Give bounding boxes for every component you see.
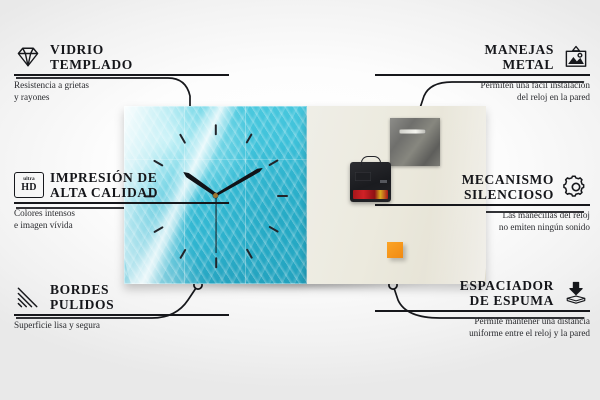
arrow-down-onto-pad-icon	[562, 280, 590, 306]
feature-description: Superficie lisa y segura	[14, 316, 229, 331]
picture-frame-hanger-icon	[562, 44, 590, 70]
feature-description: Permiten una fácil instalación del reloj…	[375, 76, 590, 103]
feature-title: MANEJASMETAL	[485, 42, 554, 72]
feature-title: BORDESPULIDOS	[50, 282, 114, 312]
metal-hanger-plate	[390, 118, 440, 166]
ultra-hd-icon-main-text: HD	[21, 183, 37, 193]
feature-description: Resistencia a grietas y rayones	[14, 76, 229, 103]
feature-header: BORDESPULIDOS	[14, 282, 229, 314]
feature-header: ultra HD IMPRESIÓN DEALTA CALIDAD	[14, 170, 229, 202]
feature-header: ESPACIADORDE ESPUMA	[375, 278, 590, 310]
feature-description: Permite mantener una distancia uniforme …	[375, 312, 590, 339]
foam-spacer-square	[387, 242, 403, 258]
feature-manejas-metal: MANEJASMETAL Permiten una fácil instalac…	[375, 42, 590, 103]
feature-header: VIDRIOTEMPLADO	[14, 42, 229, 74]
diamond-icon	[14, 44, 42, 70]
infographic-canvas: VIDRIOTEMPLADO Resistencia a grietas y r…	[0, 0, 600, 400]
feature-mecanismo-silencioso: MECANISMOSILENCIOSO Las manecillas del r…	[375, 172, 590, 233]
feature-description: Colores intensos e imagen vívida	[14, 204, 229, 231]
feature-description: Las manecillas del reloj no emiten ningú…	[375, 206, 590, 233]
feature-header: MECANISMOSILENCIOSO	[375, 172, 590, 204]
feature-header: MANEJASMETAL	[375, 42, 590, 74]
feature-title: ESPACIADORDE ESPUMA	[460, 278, 554, 308]
polished-edge-stripes-icon	[14, 284, 42, 310]
feature-vidrio-templado: VIDRIOTEMPLADO Resistencia a grietas y r…	[14, 42, 229, 103]
feature-impresion-alta-calidad: ultra HD IMPRESIÓN DEALTA CALIDAD Colore…	[14, 170, 229, 231]
feature-title: VIDRIOTEMPLADO	[50, 42, 133, 72]
feature-title: MECANISMOSILENCIOSO	[462, 172, 554, 202]
gear-icon	[562, 174, 590, 200]
feature-bordes-pulidos: BORDESPULIDOS Superficie lisa y segura	[14, 282, 229, 331]
hanger-slot	[399, 129, 426, 134]
feature-espaciador-de-espuma: ESPACIADORDE ESPUMA Permite mantener una…	[375, 278, 590, 339]
mechanism-hanger-loop	[361, 156, 381, 166]
mechanism-panel	[355, 172, 371, 181]
feature-title: IMPRESIÓN DEALTA CALIDAD	[50, 170, 158, 200]
ultra-hd-icon: ultra HD	[14, 172, 42, 198]
